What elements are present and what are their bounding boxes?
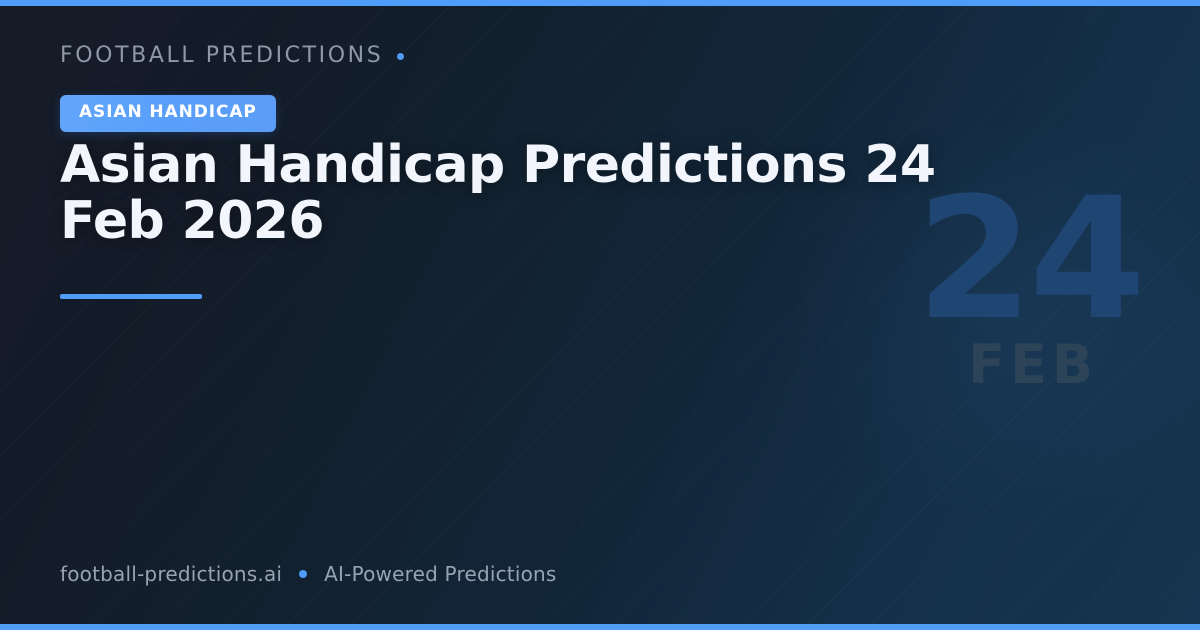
footer: football-predictions.ai AI-Powered Predi… bbox=[60, 564, 557, 584]
category-badge-label: ASIAN HANDICAP bbox=[79, 102, 257, 122]
footer-separator-dot-icon bbox=[299, 570, 307, 578]
top-accent-bar bbox=[0, 0, 1200, 6]
accent-rule bbox=[60, 294, 202, 299]
eyebrow: FOOTBALL PREDICTIONS bbox=[60, 45, 404, 67]
card-content: FOOTBALL PREDICTIONS ASIAN HANDICAP Asia… bbox=[60, 0, 1140, 630]
social-share-card: 24 FEB FOOTBALL PREDICTIONS ASIAN HANDIC… bbox=[0, 0, 1200, 630]
footer-tagline: AI-Powered Predictions bbox=[324, 564, 556, 584]
eyebrow-label: FOOTBALL PREDICTIONS bbox=[60, 45, 383, 67]
page-title: Asian Handicap Predictions 24 Feb 2026 bbox=[60, 137, 970, 249]
eyebrow-dot-icon bbox=[397, 53, 404, 60]
bottom-accent-bar bbox=[0, 624, 1200, 630]
footer-site-url: football-predictions.ai bbox=[60, 564, 282, 584]
category-badge[interactable]: ASIAN HANDICAP bbox=[60, 95, 276, 132]
